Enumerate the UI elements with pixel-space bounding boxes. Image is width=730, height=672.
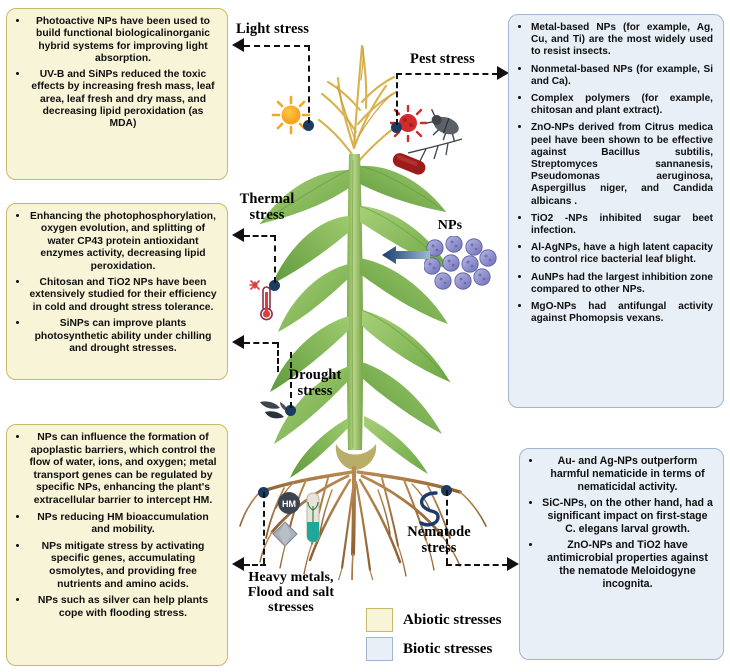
connector-nematode-horizontal [446,564,508,566]
info-box-pest-stress: Metal-based NPs (for example, Ag, Cu, an… [508,14,724,408]
bullet-list: NPs can influence the formation of apopl… [11,431,219,620]
bullet-list: Au- and Ag-NPs outperform harmful nemati… [524,455,715,591]
heavy-metal-icon: HM [277,491,301,515]
arrow-to-light-box [232,38,244,52]
figure-canvas: HM [0,0,730,672]
bullet-item: NPs can influence the formation of apopl… [29,431,217,508]
pest-icons [390,105,482,183]
legend-swatch-abiotic [366,608,393,632]
bullet-item: UV-B and SiNPs reduced the toxic effects… [29,68,217,130]
info-box-heavy-metals: NPs can influence the formation of apopl… [6,424,228,666]
info-box-thermal-stress: Enhancing the photophosphorylation, oxyg… [6,203,228,380]
svg-text:HM: HM [282,499,296,509]
arrow-to-nematode-box [507,557,519,571]
legend-label-biotic: Biotic stresses [403,641,492,658]
legend-swatch-biotic [366,637,393,661]
connector-light-horizontal [244,45,310,47]
legend: Abiotic stresses Biotic stresses [366,608,501,666]
bullet-item: NPs such as silver can help plants cope … [29,594,217,620]
bullet-item: Chitosan and TiO2 NPs have been extensiv… [29,276,217,314]
bullet-item: ZnO-NPs and TiO2 have antimicrobial prop… [542,539,713,591]
arrow-to-thermal-box-2 [232,335,244,349]
connector-thermal-horizontal [244,235,276,237]
bullet-item: Au- and Ag-NPs outperform harmful nemati… [542,455,713,494]
connector-heavy-vertical [263,492,265,564]
bullet-item: SiC-NPs, on the other hand, had a signif… [542,497,713,536]
label-drought-stress: Drought stress [276,368,354,399]
legend-item-biotic: Biotic stresses [366,637,501,661]
legend-label-abiotic: Abiotic stresses [403,612,501,629]
bullet-item: Enhancing the photophosphorylation, oxyg… [29,210,217,273]
info-box-nematode-stress: Au- and Ag-NPs outperform harmful nemati… [519,448,724,660]
bullet-item: AuNPs had the largest inhibition zone co… [531,271,713,296]
np-uptake-arrow-icon [382,245,430,265]
label-heavy-metals: Heavy metals, Flood and salt stresses [230,570,352,615]
connector-heavy-horizontal [244,564,266,566]
metal-flake-icon [271,520,299,548]
label-pest-stress: Pest stress [410,52,506,68]
nanoparticle-cluster-icon [424,236,498,294]
bullet-item: Al-AgNPs, have a high latent capacity to… [531,241,713,266]
label-light-stress: Light stress [236,22,336,38]
bullet-item: NPs reducing HM bioaccumulation and mobi… [29,511,217,537]
bullet-item: NPs mitigate stress by activating specif… [29,540,217,591]
label-nematode-stress: Nematode stress [394,525,484,556]
dry-soil-icon [258,398,288,424]
bullet-list: Enhancing the photophosphorylation, oxyg… [11,210,219,355]
info-box-light-stress: Photoactive NPs have been used to build … [6,8,228,180]
arrow-to-thermal-box [232,228,244,242]
bullet-item: TiO2 -NPs inhibited sugar beet infection… [531,212,713,237]
connector-thermal-horizontal-2 [244,342,278,344]
bullet-item: MgO-NPs had antifungal activity against … [531,300,713,325]
bullet-list: Photoactive NPs have been used to build … [11,15,219,131]
connector-thermal-vertical [274,235,276,283]
arrow-to-heavy-box [232,557,244,571]
bullet-list: Metal-based NPs (for example, Ag, Cu, an… [513,21,715,325]
label-thermal-stress: Thermal stress [234,192,300,223]
bullet-item: SiNPs can improve plants photosynthetic … [29,317,217,355]
legend-item-abiotic: Abiotic stresses [366,608,501,632]
test-tube-icon [303,492,323,548]
connector-pest-horizontal [396,73,498,75]
bullet-item: Photoactive NPs have been used to build … [29,15,217,65]
connector-light-vertical [308,45,310,123]
bullet-item: Nonmetal-based NPs (for example, Si and … [531,63,713,88]
label-nps: NPs [424,218,476,234]
bullet-item: Complex polymers (for example, chitosan … [531,92,713,117]
connector-pest-vertical [396,73,398,125]
bullet-item: Metal-based NPs (for example, Ag, Cu, an… [531,21,713,59]
bullet-item: ZnO-NPs derived from Citrus medica peel … [531,121,713,207]
